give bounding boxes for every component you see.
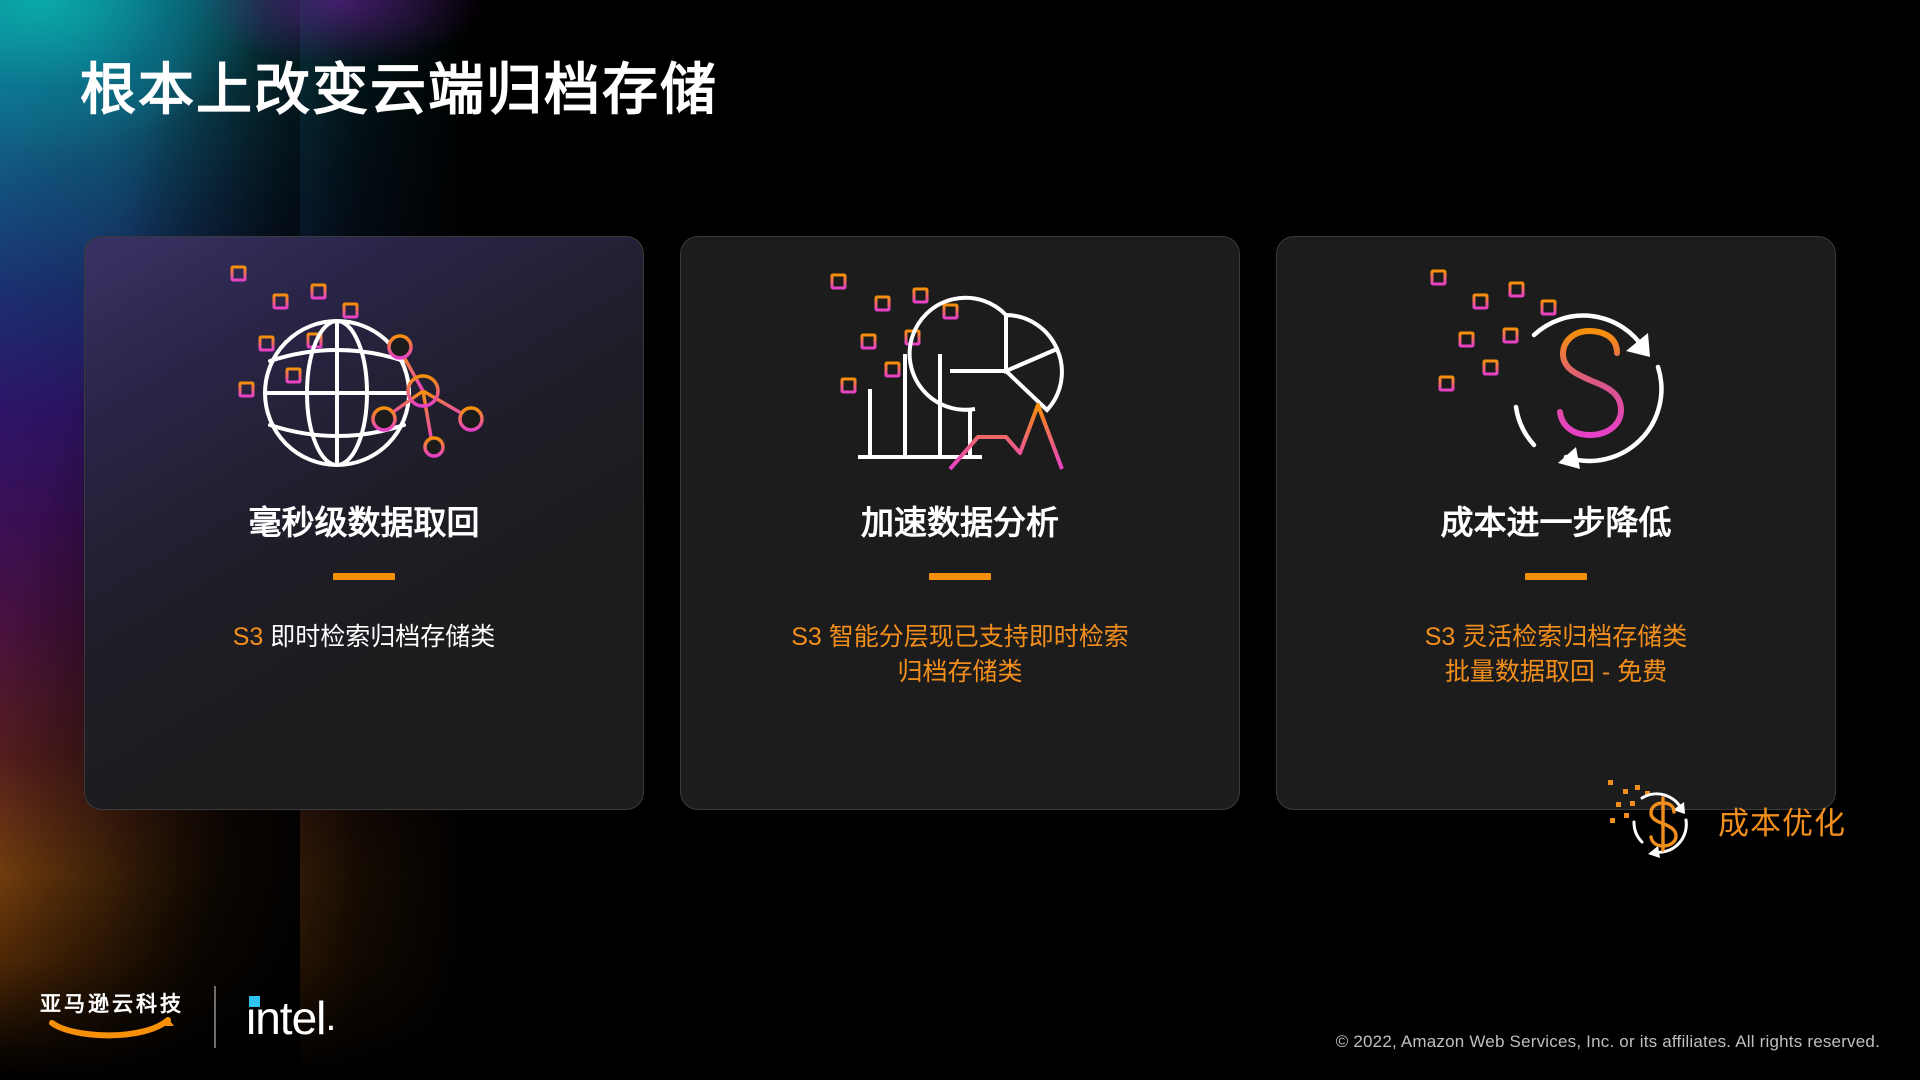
card-2-icon-wrap <box>681 237 1239 499</box>
card-2-body-line1: S3 智能分层现已支持即时检索 <box>791 620 1129 656</box>
card-1-icon-wrap <box>85 237 643 499</box>
card-2-title: 加速数据分析 <box>861 503 1059 543</box>
card-1-body-rest: 即时检索归档存储类 <box>263 623 495 651</box>
page-title: 根本上改变云端归档存储 <box>80 56 718 123</box>
feature-card-2[interactable]: 加速数据分析 S3 智能分层现已支持即时检索 归档存储类 <box>680 236 1240 810</box>
aws-china-logo-text: 亚马逊云科技 <box>40 994 184 1015</box>
cost-optimization-badge: 成本优化 <box>1606 772 1846 868</box>
card-3-icon-wrap <box>1277 237 1835 499</box>
card-3-title: 成本进一步降低 <box>1441 503 1672 543</box>
card-1-underline <box>333 573 395 580</box>
card-3-body-line1: S3 灵活检索归档存储类 <box>1425 620 1688 656</box>
cost-optimization-dollar-icon <box>1606 772 1702 868</box>
globe-network-icon <box>214 257 514 487</box>
aws-china-logo: 亚马逊云科技 <box>40 994 184 1041</box>
card-3-body-line2: 批量数据取回 - 免费 <box>1425 655 1688 691</box>
copyright-text: © 2022, Amazon Web Services, Inc. or its… <box>1336 1032 1880 1052</box>
card-3-underline <box>1525 573 1587 580</box>
intel-logo-text: intel <box>246 998 325 1039</box>
slide-canvas: 根本上改变云端归档存储 <box>0 0 1920 1080</box>
feature-card-3[interactable]: 成本进一步降低 S3 灵活检索归档存储类 批量数据取回 - 免费 <box>1276 236 1836 810</box>
card-2-underline <box>929 573 991 580</box>
card-2-body: S3 智能分层现已支持即时检索 归档存储类 <box>757 620 1163 691</box>
card-1-title: 毫秒级数据取回 <box>249 503 480 543</box>
card-2-body-line2: 归档存储类 <box>791 655 1129 691</box>
footer-divider <box>214 986 216 1048</box>
arrow-head-top <box>1626 333 1650 357</box>
intel-logo: intel . <box>246 995 337 1040</box>
card-1-body-s3: S3 <box>233 623 264 651</box>
footer-logos: 亚马逊云科技 intel . <box>40 986 337 1048</box>
intel-dot-icon <box>249 996 260 1007</box>
intel-period: . <box>325 995 336 1040</box>
arrow-head-bottom <box>1558 447 1580 469</box>
feature-card-1[interactable]: 毫秒级数据取回 S3 即时检索归档存储类 <box>84 236 644 810</box>
dollar-cycle-icon <box>1406 257 1706 487</box>
feature-cards-row: 毫秒级数据取回 S3 即时检索归档存储类 <box>84 236 1836 810</box>
badge-label: 成本优化 <box>1718 798 1846 843</box>
card-1-body: S3 即时检索归档存储类 <box>199 620 530 656</box>
card-3-body: S3 灵活检索归档存储类 批量数据取回 - 免费 <box>1391 620 1722 691</box>
analytics-charts-icon <box>810 257 1110 487</box>
amazon-smile-icon <box>48 1015 176 1041</box>
